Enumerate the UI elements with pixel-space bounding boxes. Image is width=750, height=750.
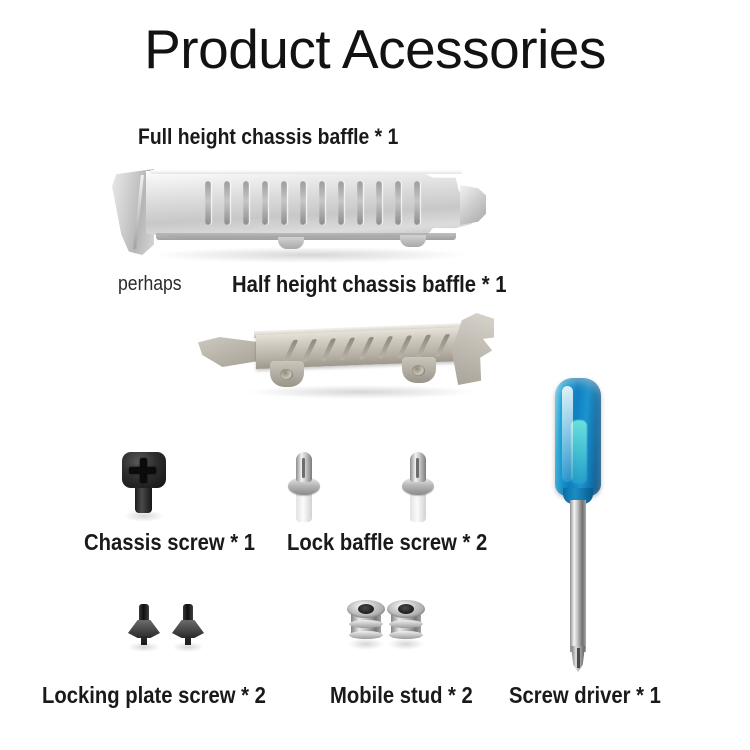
label-chassis-screw: Chassis screw * 1 bbox=[84, 529, 255, 556]
baffle-mount-tab bbox=[400, 235, 426, 247]
label-mobile-stud: Mobile stud * 2 bbox=[330, 682, 473, 709]
mobile-stud-image bbox=[386, 600, 426, 650]
locking-plate-screw-image bbox=[128, 604, 160, 652]
baffle-shadow bbox=[150, 247, 470, 263]
mobile-stud-socket bbox=[398, 604, 414, 614]
half-baffle-shadow bbox=[246, 385, 476, 399]
lock-screw-slot bbox=[416, 458, 419, 478]
screwdriver-handle-core bbox=[571, 420, 587, 484]
label-perhaps: perhaps bbox=[118, 273, 182, 296]
lock-screw-slot bbox=[302, 458, 305, 478]
lock-baffle-screw-image bbox=[398, 452, 438, 526]
product-accessories-image: Product Acessories Full height chassis b… bbox=[0, 0, 750, 750]
label-full-height-chassis-baffle: Full height chassis baffle * 1 bbox=[138, 124, 398, 150]
page-title: Product Acessories bbox=[0, 18, 750, 80]
lock-screw-base bbox=[296, 492, 312, 522]
mobile-stud-shadow bbox=[348, 638, 384, 650]
baffle-top-edge bbox=[150, 170, 462, 174]
screw-driver-image bbox=[545, 378, 615, 678]
label-screw-driver: Screw driver * 1 bbox=[509, 682, 661, 709]
mobile-stud-ring bbox=[349, 631, 383, 639]
label-half-height-chassis-baffle: Half height chassis baffle * 1 bbox=[232, 271, 506, 298]
baffle-notched-end-tab bbox=[460, 185, 486, 225]
half-baffle-screw-hole bbox=[280, 369, 293, 380]
full-height-chassis-baffle-image bbox=[110, 163, 490, 261]
half-baffle-screw-hole bbox=[412, 365, 425, 376]
screwdriver-tip-groove bbox=[577, 648, 580, 668]
screwdriver-handle-highlight bbox=[562, 386, 573, 482]
mobile-stud-ring bbox=[389, 631, 423, 639]
chassis-screw-image bbox=[118, 452, 170, 522]
label-locking-plate-screw: Locking plate screw * 2 bbox=[42, 682, 266, 709]
lock-baffle-screw-image bbox=[284, 452, 324, 526]
mobile-stud-socket bbox=[358, 604, 374, 614]
mobile-stud-image bbox=[346, 600, 386, 650]
mobile-stud-ring bbox=[349, 620, 383, 628]
mobile-stud-shadow bbox=[388, 638, 424, 650]
label-lock-baffle-screw: Lock baffle screw * 2 bbox=[287, 529, 487, 556]
baffle-mount-tab bbox=[278, 237, 304, 249]
chassis-screw-shaft bbox=[135, 485, 152, 513]
screwdriver-shaft bbox=[570, 500, 586, 652]
half-height-chassis-baffle-image bbox=[196, 303, 504, 399]
phillips-cross-icon bbox=[129, 467, 156, 474]
plate-screw-tip bbox=[141, 636, 147, 645]
plate-screw-tip bbox=[185, 636, 191, 645]
lock-screw-base bbox=[410, 492, 426, 522]
baffle-vent-slots bbox=[205, 181, 425, 227]
mobile-stud-ring bbox=[389, 620, 423, 628]
locking-plate-screw-image bbox=[172, 604, 204, 652]
